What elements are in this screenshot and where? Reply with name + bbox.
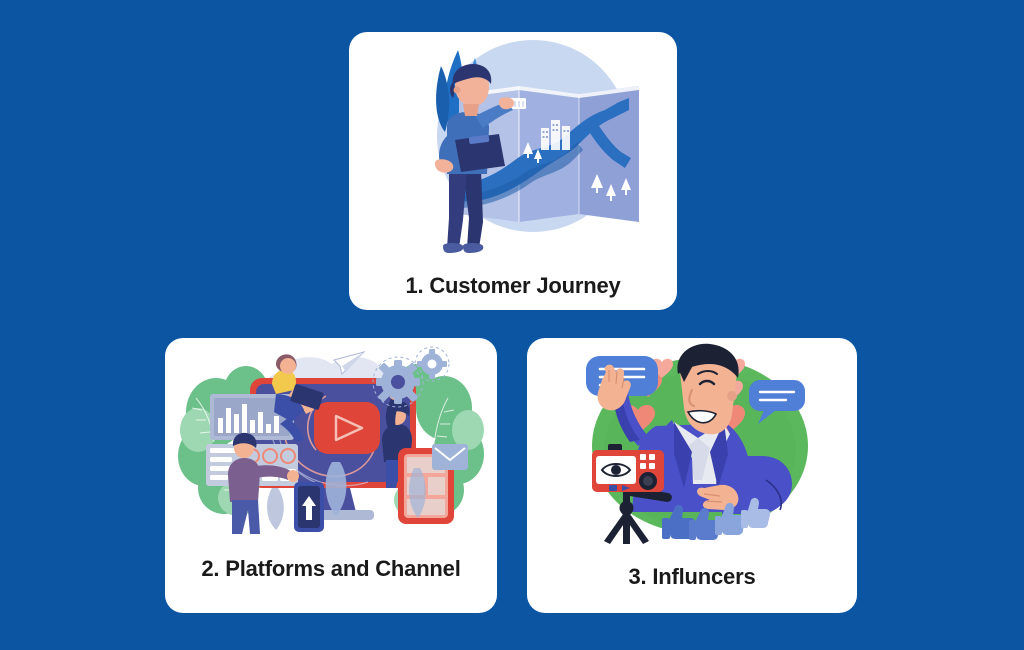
card-platforms-and-channels[interactable]: 2. Platforms and Channel xyxy=(165,338,497,613)
card-influencers[interactable]: 3. Influncers xyxy=(527,338,857,613)
card-customer-journey[interactable]: 1. Customer Journey xyxy=(349,32,677,310)
card-title: 3. Influncers xyxy=(629,564,756,590)
influencers-illustration xyxy=(552,338,832,558)
card-title: 2. Platforms and Channel xyxy=(201,556,460,582)
card-title: 1. Customer Journey xyxy=(405,273,620,299)
customer-journey-illustration xyxy=(363,32,663,269)
page-root: 1. Customer Journey xyxy=(0,0,1024,650)
platforms-and-channels-illustration xyxy=(176,338,486,548)
